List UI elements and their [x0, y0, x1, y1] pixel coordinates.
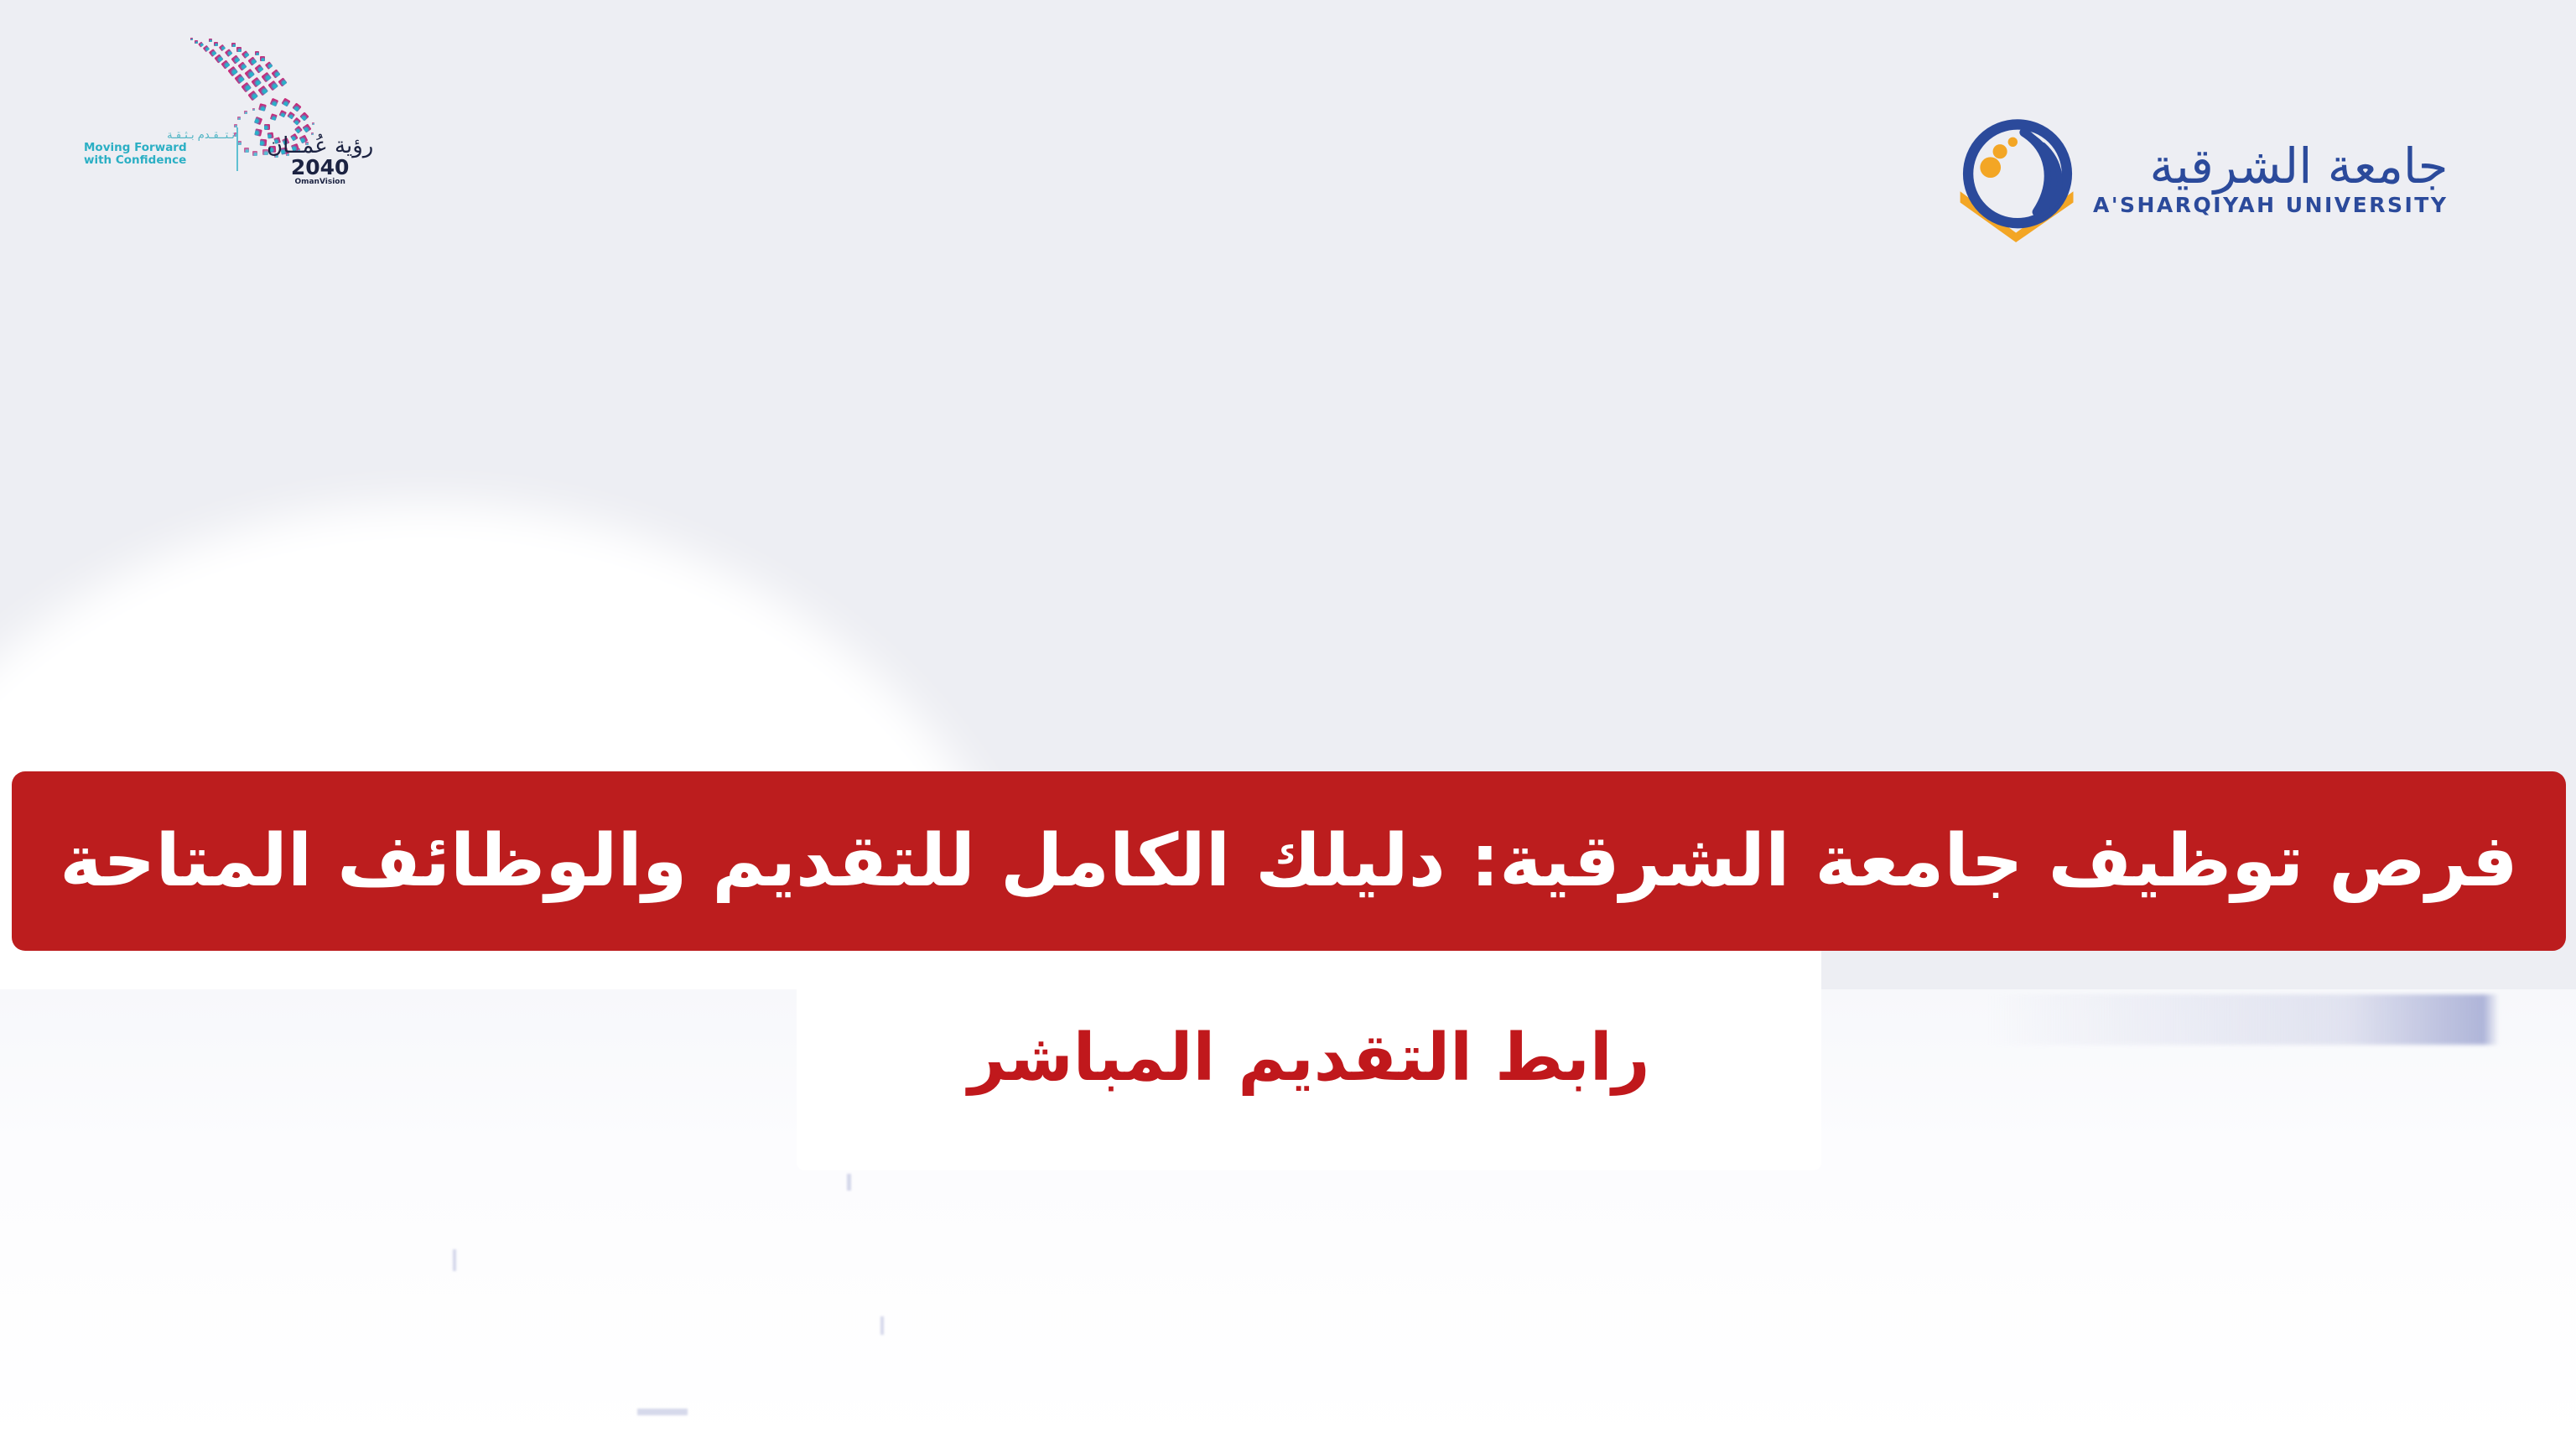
banner-page: نـتــقـدم بـثـقـة Moving Forward with Co…: [0, 0, 2576, 1448]
oman-vision-divider: [236, 127, 238, 171]
university-wordmark: جامعة الشرقية A'SHARQIYAH UNIVERSITY: [2093, 139, 2448, 218]
oman-vision-2040-logo: نـتــقـدم بـثـقـة Moving Forward with Co…: [84, 34, 352, 176]
oman-vision-tagline-en-line2: with Confidence: [84, 154, 235, 167]
oman-vision-name: رؤية عُمــان 2040 OmanVision: [267, 134, 373, 187]
university-name-en: A'SHARQIYAH UNIVERSITY: [2093, 193, 2448, 218]
emblem-dot-medium: [1993, 144, 2007, 158]
university-name-ar: جامعة الشرقية: [2093, 139, 2448, 193]
direct-application-link-card[interactable]: رابط التقديم المباشر: [797, 951, 1821, 1170]
oman-vision-tagline-ar: نـتــقـدم بـثـقـة: [84, 130, 235, 142]
headline-banner-title: فرص توظيف جامعة الشرقية: دليلك الكامل لل…: [60, 819, 2517, 903]
faint-horizontal-artifact: [1987, 994, 2499, 1045]
oman-vision-year: 2040: [267, 158, 373, 178]
emblem-dot-large: [1980, 157, 2001, 178]
faint-speck: [847, 1174, 851, 1191]
headline-banner: فرص توظيف جامعة الشرقية: دليلك الكامل لل…: [12, 771, 2566, 951]
oman-vision-name-en: OmanVision: [267, 178, 373, 187]
oman-vision-tagline-en-line1: Moving Forward: [84, 142, 235, 154]
asharqiyah-university-emblem-icon: [1954, 115, 2081, 242]
faint-speck: [880, 1316, 884, 1335]
oman-vision-tagline: نـتــقـدم بـثـقـة Moving Forward with Co…: [84, 130, 235, 167]
direct-application-link-title[interactable]: رابط التقديم المباشر: [969, 1020, 1650, 1097]
faint-speck: [453, 1249, 456, 1271]
faint-speck: [637, 1409, 688, 1415]
oman-vision-name-ar: رؤية عُمــان: [267, 134, 373, 158]
asharqiyah-university-logo: جامعة الشرقية A'SHARQIYAH UNIVERSITY: [1954, 109, 2541, 247]
emblem-dot-small: [2008, 137, 2018, 146]
